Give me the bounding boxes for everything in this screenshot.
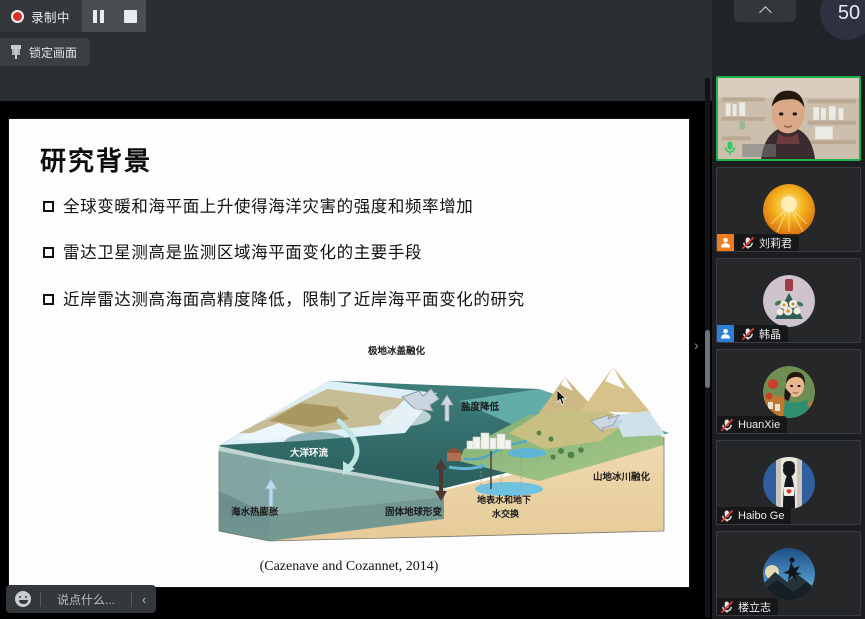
participant-nametag: 刘莉君 [717,234,799,251]
lock-screen-button[interactable]: 锁定画面 [0,38,90,66]
sunflower-avatar-icon [763,184,815,236]
meeting-screen-share-window: 录制中 锁定画面 研究背景 全球变暖和海平面上升使得海洋灾害的强度和频率增加 [0,0,865,619]
bouquet-avatar-icon [763,275,815,327]
diagram-label-mountain-glacier: 山地冰川融化 [593,469,650,483]
diagram-label-salinity: 盐度降低 [461,399,499,413]
recording-indicator-bar: 录制中 [0,0,146,32]
microphone-muted-icon [720,418,734,432]
pause-icon [93,10,104,23]
person-coat-avatar-icon [763,457,815,509]
slide-bullet-text: 近岸雷达测高海面高精度降低，限制了近岸海平面变化的研究 [63,289,525,310]
diagram-label-thermal-expansion: 海水热膨胀 [231,504,279,518]
slide-bullet-list: 全球变暖和海平面上升使得海洋灾害的强度和频率增加 雷达卫星测高是监测区域海平面变… [43,196,663,335]
chat-input[interactable]: 说点什么... [41,591,131,608]
top-toolbar-band: 录制中 锁定画面 [0,0,712,101]
participant-name: 韩晶 [759,326,781,342]
recording-controls [82,0,146,32]
diagram-artwork [209,341,679,556]
slide-bullet-text: 全球变暖和海平面上升使得海洋灾害的强度和频率增加 [63,196,473,217]
microphone-muted-icon [741,236,755,250]
diagram-label-water-exchange-line1: 地表水和地下 [477,493,531,506]
stop-recording-button[interactable] [114,0,146,32]
participant-nametag: 韩晶 [717,325,788,342]
participant-nametag: 楼立志 [717,598,778,615]
record-dot-icon [11,10,24,23]
self-name-overlay [742,144,776,157]
slide-title: 研究背景 [40,141,152,178]
recording-status: 录制中 [0,0,82,32]
collapse-rail-button[interactable] [734,0,796,22]
host-badge-icon [717,234,734,251]
participant-name: HuanXie [738,419,780,431]
shared-slide[interactable]: 研究背景 全球变暖和海平面上升使得海洋灾害的强度和频率增加 雷达卫星测高是监测区… [8,118,690,588]
slide-bullet-item: 全球变暖和海平面上升使得海洋灾害的强度和频率增加 [43,196,663,217]
pin-icon [10,45,22,59]
chat-collapse-button[interactable]: ‹ [132,585,156,613]
microphone-active-icon [722,140,738,156]
microphone-muted-icon [741,327,755,341]
lock-screen-label: 锁定画面 [29,44,77,61]
chevron-up-icon [759,6,772,19]
recording-status-label: 录制中 [31,7,70,26]
mountain-jump-avatar-icon [763,548,815,600]
diagram-label-solid-earth: 固体地球形变 [385,504,442,518]
woman-portrait-avatar-icon [763,366,815,418]
participant-tile[interactable]: Haibo Ge [716,440,861,525]
chat-input-bar[interactable]: 说点什么... ‹ [6,585,156,613]
cohost-badge-icon [717,325,734,342]
diagram-label-circulation: 大洋环流 [290,445,328,459]
participant-rail: 50 [712,0,865,619]
stop-icon [124,10,137,23]
emoji-picker-button[interactable] [6,585,40,613]
microphone-muted-icon [720,509,734,523]
microphone-muted-icon [720,600,734,614]
diagram-label-water-exchange-line2: 水交换 [492,507,519,520]
participant-name: 刘莉君 [759,235,792,251]
sea-level-block-diagram: 极地冰盖融化 盐度降低 大洋环流 海水热膨胀 固体地球形变 地表水和地下 水交换… [209,341,679,556]
self-video-feed [718,78,859,161]
participant-tile[interactable]: 楼立志 [716,531,861,616]
slide-bullet-item: 近岸雷达测高海面高精度降低，限制了近岸海平面变化的研究 [43,289,663,310]
pause-recording-button[interactable] [82,0,114,32]
participant-tile[interactable]: HuanXie [716,349,861,434]
square-bullet-icon [43,201,54,212]
participant-nametag: Haibo Ge [717,507,791,524]
slide-citation: (Cazenave and Cozannet, 2014) [9,559,689,575]
mouse-cursor [557,390,568,406]
smiley-icon [15,591,31,607]
participant-nametag: HuanXie [717,416,787,433]
square-bullet-icon [43,247,54,258]
participant-tile[interactable]: 刘莉君 [716,167,861,252]
participant-name: 楼立志 [738,599,771,615]
participant-scrollbar-thumb[interactable] [705,330,710,388]
square-bullet-icon [43,294,54,305]
participant-tile-self[interactable] [716,76,861,161]
participant-tile[interactable]: 韩晶 [716,258,861,343]
slide-bullet-item: 雷达卫星测高是监测区域海平面变化的主要手段 [43,242,663,263]
participant-name: Haibo Ge [738,510,784,522]
next-slide-arrow[interactable]: › [694,338,699,352]
diagram-label-ice-sheet: 极地冰盖融化 [368,343,425,357]
slide-bullet-text: 雷达卫星测高是监测区域海平面变化的主要手段 [63,242,422,263]
